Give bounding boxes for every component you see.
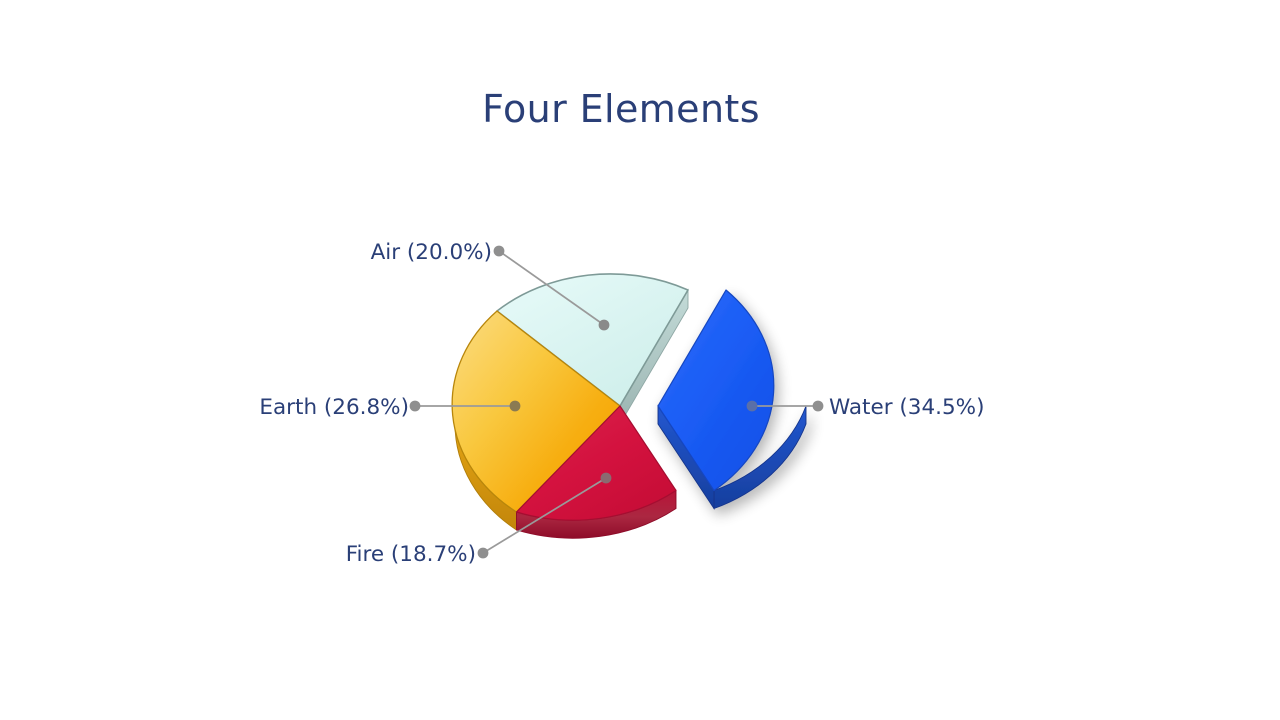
- pie-chart-figure: Four Elements: [0, 0, 1280, 720]
- slice-label-water: Water (34.5%): [829, 395, 984, 420]
- chart-canvas: Four Elements: [0, 0, 1280, 720]
- slice-label-air: Air (20.0%): [371, 240, 492, 265]
- slice-label-fire: Fire (18.7%): [346, 542, 476, 567]
- page-title: Four Elements: [482, 87, 760, 131]
- slice-label-earth: Earth (26.8%): [259, 395, 409, 420]
